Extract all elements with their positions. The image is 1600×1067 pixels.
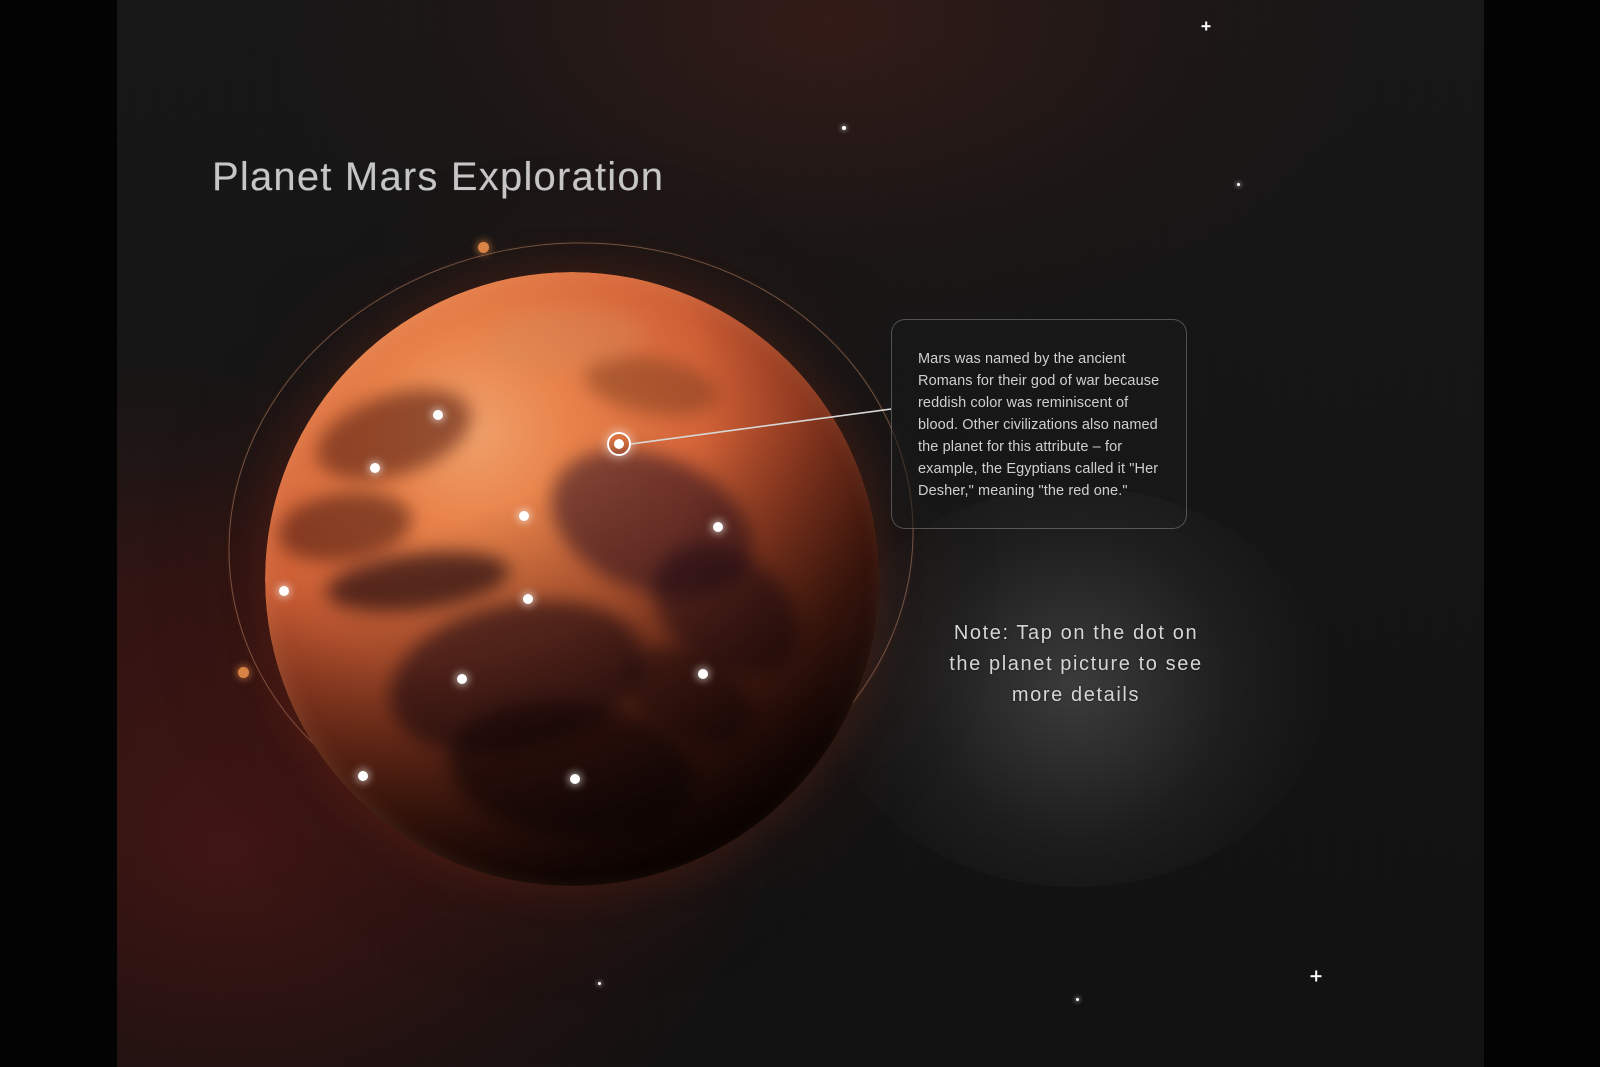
site-dot-8[interactable] bbox=[457, 674, 467, 684]
tooltip-body-text: Mars was named by the ancient Romans for… bbox=[918, 351, 1159, 499]
app-root: Mars was named by the ancient Romans for… bbox=[0, 0, 1600, 1067]
site-dot-6[interactable] bbox=[523, 594, 533, 604]
site-dot-7[interactable] bbox=[698, 669, 708, 679]
active-site-dot[interactable] bbox=[607, 432, 631, 456]
site-dot-5[interactable] bbox=[279, 586, 289, 596]
site-dot-4[interactable] bbox=[713, 522, 723, 532]
info-tooltip: Mars was named by the ancient Romans for… bbox=[891, 319, 1187, 529]
site-dot-10[interactable] bbox=[570, 774, 580, 784]
site-dot-2[interactable] bbox=[370, 463, 380, 473]
note-text: Note: Tap on the dot on the planet pictu… bbox=[941, 618, 1211, 711]
site-dot-9[interactable] bbox=[358, 771, 368, 781]
mars-planet-image[interactable] bbox=[265, 272, 879, 886]
artboard: Mars was named by the ancient Romans for… bbox=[117, 0, 1484, 1067]
planet-limb-highlight bbox=[265, 272, 879, 886]
site-dot-3[interactable] bbox=[519, 511, 529, 521]
site-dot-1[interactable] bbox=[433, 410, 443, 420]
page-title: Planet Mars Exploration bbox=[212, 155, 664, 200]
